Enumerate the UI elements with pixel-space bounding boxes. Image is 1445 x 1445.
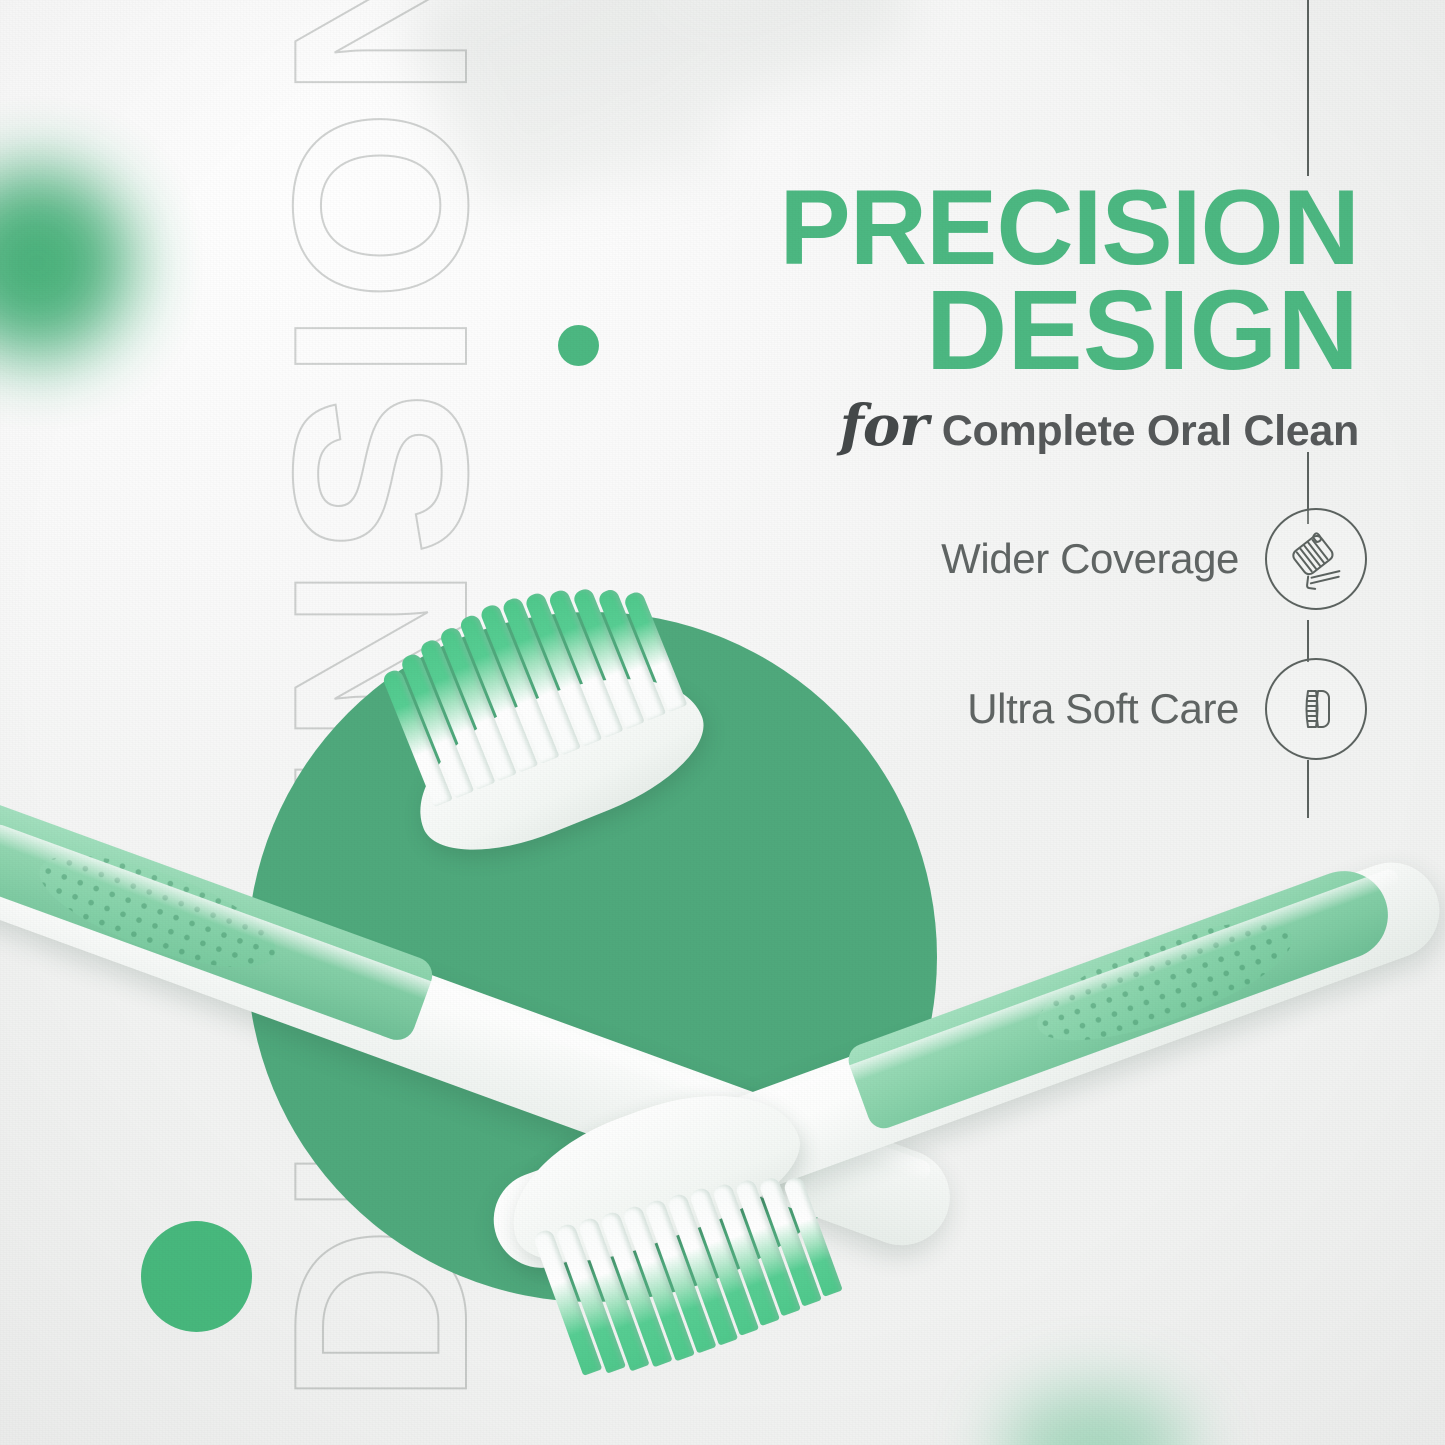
subtitle-script-word: for	[840, 393, 928, 459]
brush-bristles-side-icon	[1265, 658, 1367, 760]
banner-canvas: DIMENSIONS	[0, 0, 1445, 1445]
connector-line-lower	[1307, 620, 1309, 662]
toothbrush-lower	[470, 1080, 1445, 1445]
accent-dot-top	[558, 325, 599, 366]
feature-row-ultra-soft-care: Ultra Soft Care	[807, 658, 1367, 760]
feature-label-1: Wider Coverage	[941, 535, 1239, 583]
headline-block: PRECISION DESIGN	[629, 178, 1359, 383]
subtitle-block: forComplete Oral Clean	[599, 393, 1359, 459]
headline-line-2: DESIGN	[629, 278, 1359, 383]
connector-line-top	[1307, 0, 1309, 176]
feature-label-2: Ultra Soft Care	[967, 685, 1239, 733]
feature-row-wider-coverage: Wider Coverage	[807, 508, 1367, 610]
toothbrush-head-angled-icon	[1265, 508, 1367, 610]
connector-line-bottom	[1307, 760, 1309, 818]
headline-line-1: PRECISION	[629, 178, 1359, 278]
accent-dot-bottom	[141, 1221, 252, 1332]
green-blur-blob-left	[0, 168, 132, 358]
subtitle-text: Complete Oral Clean	[942, 407, 1359, 455]
